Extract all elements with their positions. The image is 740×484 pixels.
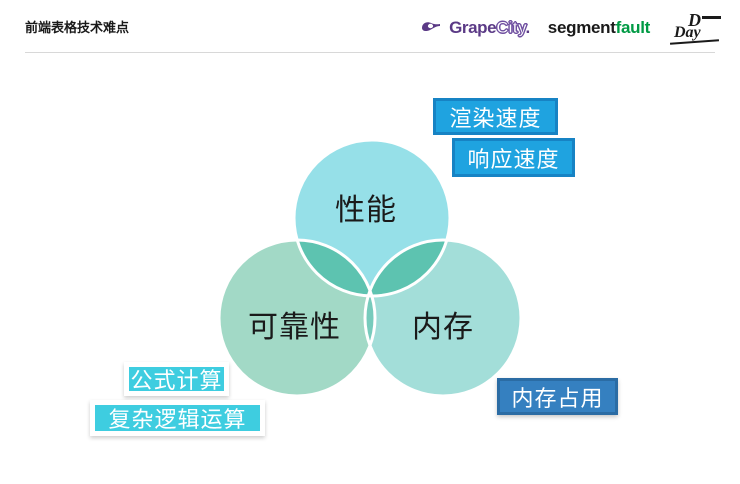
segmentfault-logo: segmentfault — [548, 18, 650, 38]
venn-label-performance: 性能 — [335, 185, 397, 229]
callout-response-speed: 响应速度 — [452, 138, 575, 177]
grapecity-mark-icon — [420, 19, 442, 38]
page-title: 前端表格技术难点 — [25, 17, 129, 36]
logo-strip: GrapeCity. segmentfault D Day — [420, 10, 722, 46]
d-day-word-day: Day — [674, 24, 701, 42]
segmentfault-word-fault: fault — [616, 18, 650, 38]
venn-label-reliability: 可靠性 — [248, 302, 341, 346]
grapecity-word-grape: Grape — [449, 18, 496, 37]
grapecity-word-city: City — [496, 18, 525, 37]
d-day-bar-top — [702, 16, 721, 19]
d-day-logo: D Day — [668, 10, 722, 46]
callout-formula-calculation: 公式计算 — [124, 362, 229, 396]
callout-memory-usage: 内存占用 — [497, 378, 618, 415]
grapecity-word-dot: . — [525, 18, 529, 37]
header-divider — [25, 52, 715, 53]
callout-complex-logic: 复杂逻辑运算 — [90, 400, 265, 436]
callout-render-speed: 渲染速度 — [433, 98, 558, 135]
slide-header: 前端表格技术难点 GrapeCity. segmentfault D Day — [0, 0, 740, 55]
grapecity-wordmark: GrapeCity. — [449, 18, 530, 38]
venn-label-memory: 内存 — [412, 302, 474, 346]
grapecity-logo: GrapeCity. — [420, 18, 530, 38]
segmentfault-word-segment: segment — [548, 18, 616, 38]
